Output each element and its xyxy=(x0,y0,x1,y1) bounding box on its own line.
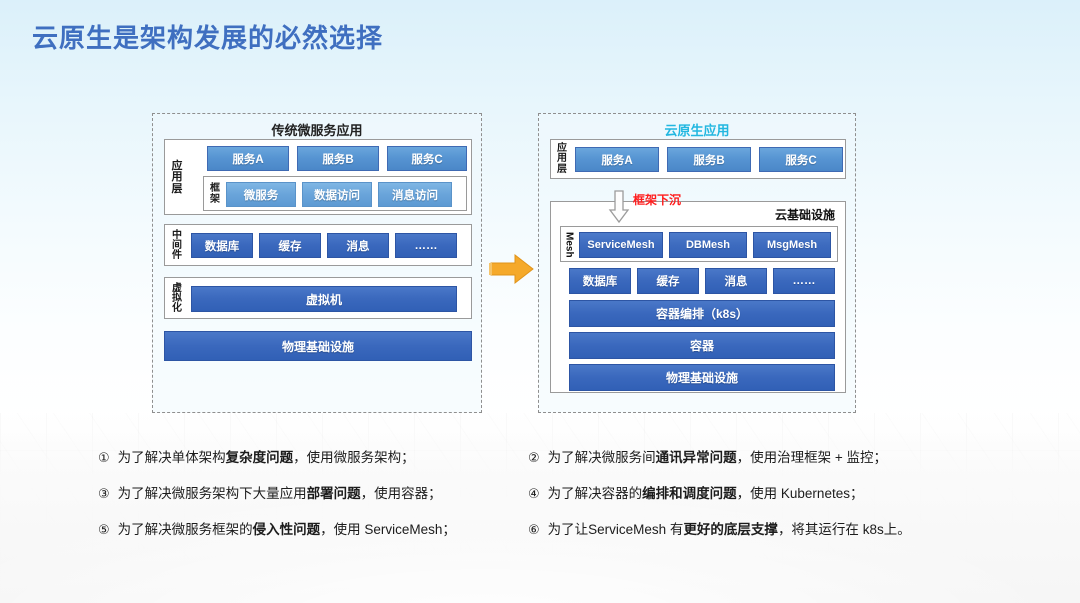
right-service-b: 服务B xyxy=(667,147,751,172)
left-middleware-item-3: 消息 xyxy=(327,233,389,258)
bullet-number: ① xyxy=(98,450,110,466)
bullet-item: ⑤ 为了解决微服务框架的侵入性问题，使用 ServiceMesh； xyxy=(98,522,528,538)
cloud-infrastructure-group: 云基础设施 Mesh ServiceMesh DBMesh MsgMesh 数据… xyxy=(550,201,846,393)
left-virtualization-group: 虚拟化 虚拟机 xyxy=(164,277,472,319)
right-middleware-item-1: 数据库 xyxy=(569,268,631,294)
bullet-number: ⑤ xyxy=(98,522,110,538)
bullet-item: ① 为了解决单体架构复杂度问题，使用微服务架构； xyxy=(98,450,528,466)
db-mesh-box: DBMesh xyxy=(669,232,747,258)
mesh-label: Mesh xyxy=(563,231,575,259)
bullet-item: ⑥ 为了让ServiceMesh 有更好的底层支撑，将其运行在 k8s上。 xyxy=(528,522,978,538)
bullet-item: ③ 为了解决微服务架构下大量应用部署问题，使用容器； xyxy=(98,486,528,502)
left-service-b: 服务B xyxy=(297,146,379,171)
bullet-text: 为了解决容器的编排和调度问题，使用 Kubernetes； xyxy=(548,486,864,502)
right-panel-title: 云原生应用 xyxy=(539,120,855,139)
bullet-text: 为了解决单体架构复杂度问题，使用微服务架构； xyxy=(118,450,415,466)
container-orchestration-box: 容器编排（k8s） xyxy=(569,300,835,327)
traditional-microservice-panel: 传统微服务应用 应 用 层 服务A 服务B 服务C 框架 微服务 数据访问 消息… xyxy=(152,113,482,413)
container-box: 容器 xyxy=(569,332,835,359)
bullet-number: ⑥ xyxy=(528,522,540,538)
right-service-c: 服务C xyxy=(759,147,843,172)
bullet-number: ② xyxy=(528,450,540,466)
cloud-infrastructure-label: 云基础设施 xyxy=(773,206,837,223)
right-middleware-item-3: 消息 xyxy=(705,268,767,294)
mesh-group: Mesh ServiceMesh DBMesh MsgMesh xyxy=(560,226,838,262)
bullet-column-left: ① 为了解决单体架构复杂度问题，使用微服务架构； ③ 为了解决微服务架构下大量应… xyxy=(98,450,528,559)
left-framework-item-2: 数据访问 xyxy=(302,182,372,207)
right-middleware-item-4: …… xyxy=(773,268,835,294)
framework-sink-note: 框架下沉 xyxy=(633,191,681,208)
bullet-item: ② 为了解决微服务间通讯异常问题，使用治理框架 + 监控； xyxy=(528,450,978,466)
left-middleware-item-1: 数据库 xyxy=(191,233,253,258)
right-arrow-icon xyxy=(489,252,535,286)
page-title: 云原生是架构发展的必然选择 xyxy=(32,18,383,55)
left-middleware-item-4: …… xyxy=(395,233,457,258)
bullet-number: ④ xyxy=(528,486,540,502)
cloud-native-panel: 云原生应用 应用层 服务A 服务B 服务C 云基础设施 Mesh Service… xyxy=(538,113,856,413)
bullet-item: ④ 为了解决容器的编排和调度问题，使用 Kubernetes； xyxy=(528,486,978,502)
bullet-column-right: ② 为了解决微服务间通讯异常问题，使用治理框架 + 监控； ④ 为了解决容器的编… xyxy=(528,450,978,559)
left-panel-title: 传统微服务应用 xyxy=(153,120,481,139)
right-service-a: 服务A xyxy=(575,147,659,172)
right-physical-infrastructure-box: 物理基础设施 xyxy=(569,364,835,391)
bullet-text: 为了解决微服务架构下大量应用部署问题，使用容器； xyxy=(118,486,442,502)
right-app-layer-label: 应用层 xyxy=(554,143,570,176)
bullet-text: 为了解决微服务框架的侵入性问题，使用 ServiceMesh； xyxy=(118,522,456,538)
left-app-layer-label: 应 用 层 xyxy=(169,148,185,208)
left-service-c: 服务C xyxy=(387,146,467,171)
left-virtualization-label: 虚拟化 xyxy=(169,282,185,316)
msg-mesh-box: MsgMesh xyxy=(753,232,831,258)
left-middleware-group: 中间件 数据库 缓存 消息 …… xyxy=(164,224,472,266)
bullet-text: 为了让ServiceMesh 有更好的底层支撑，将其运行在 k8s上。 xyxy=(548,522,911,538)
left-framework-group: 框架 微服务 数据访问 消息访问 xyxy=(203,176,467,211)
left-app-layer-group: 应 用 层 服务A 服务B 服务C 框架 微服务 数据访问 消息访问 xyxy=(164,139,472,215)
left-framework-item-1: 微服务 xyxy=(226,182,296,207)
left-service-a: 服务A xyxy=(207,146,289,171)
left-framework-item-3: 消息访问 xyxy=(378,182,452,207)
left-physical-infrastructure-box: 物理基础设施 xyxy=(164,331,472,361)
right-app-layer-group: 应用层 服务A 服务B 服务C xyxy=(550,139,846,179)
right-middleware-item-2: 缓存 xyxy=(637,268,699,294)
left-framework-label: 框架 xyxy=(207,181,223,208)
service-mesh-box: ServiceMesh xyxy=(579,232,663,258)
bullet-text: 为了解决微服务间通讯异常问题，使用治理框架 + 监控； xyxy=(548,450,887,466)
left-virtual-machine-box: 虚拟机 xyxy=(191,286,457,312)
down-arrow-outline-icon xyxy=(608,190,630,224)
left-middleware-label: 中间件 xyxy=(169,229,185,263)
bullet-number: ③ xyxy=(98,486,110,502)
left-middleware-item-2: 缓存 xyxy=(259,233,321,258)
